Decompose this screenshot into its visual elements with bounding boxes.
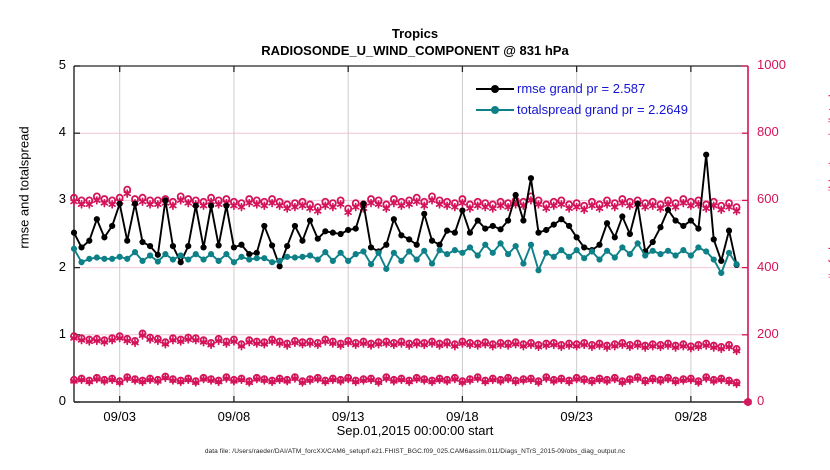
series-point: [658, 252, 663, 257]
series-point: [94, 255, 99, 260]
series-point: [513, 244, 518, 249]
figure-container: Tropics RADIOSONDE_U_WIND_COMPONENT @ 83…: [0, 0, 830, 470]
series-point: [445, 252, 450, 257]
series-point: [429, 238, 434, 243]
series-point: [231, 260, 236, 265]
series-point: [110, 256, 115, 261]
series-point: [201, 245, 206, 250]
x-axis-label: Sep.01,2015 00:00:00 start: [0, 423, 830, 438]
y-tick-right-200: 200: [757, 326, 817, 341]
series-point: [422, 248, 427, 253]
series-point: [399, 233, 404, 238]
series-point: [635, 201, 640, 206]
series-point: [528, 242, 533, 247]
series-point: [376, 250, 381, 255]
y-tick-right-600: 600: [757, 191, 817, 206]
series-point: [140, 239, 145, 244]
series-point: [521, 261, 526, 266]
series-point: [696, 226, 701, 231]
series-point: [300, 254, 305, 259]
series-point: [391, 250, 396, 255]
series-point: [269, 243, 274, 248]
series-point: [544, 227, 549, 232]
series-point: [262, 223, 267, 228]
series-point: [407, 237, 412, 242]
series-point: [353, 226, 358, 231]
series-point: [239, 242, 244, 247]
series-point: [300, 238, 305, 243]
series-point: [285, 244, 290, 249]
x-tick-09-18: 09/18: [427, 409, 497, 424]
series-point: [719, 270, 724, 275]
series-point: [704, 152, 709, 157]
series-point: [604, 248, 609, 253]
series-point: [201, 257, 206, 262]
series-point: [368, 262, 373, 267]
series-point: [597, 242, 602, 247]
series-point: [254, 250, 259, 255]
series-point: [208, 252, 213, 257]
series-point: [475, 218, 480, 223]
series-point: [506, 218, 511, 223]
series-point: [338, 231, 343, 236]
series-point: [719, 258, 724, 263]
series-point: [346, 227, 351, 232]
series-point: [117, 254, 122, 259]
series-point: [681, 223, 686, 228]
series-point: [490, 223, 495, 228]
series-point: [147, 253, 152, 258]
series-point: [231, 245, 236, 250]
series-point: [292, 223, 297, 228]
series-point: [330, 230, 335, 235]
series-point: [399, 258, 404, 263]
series-point: [277, 264, 282, 269]
y-tick-left-3: 3: [26, 191, 66, 206]
y-tick-right-1000: 1000: [757, 57, 817, 72]
series-point: [307, 218, 312, 223]
series-point: [361, 201, 366, 206]
series-point: [612, 255, 617, 260]
series-line: [74, 155, 737, 267]
series-point: [650, 248, 655, 253]
series-point: [71, 246, 76, 251]
series-point: [658, 225, 663, 230]
series-point: [452, 230, 457, 235]
x-tick-09-13: 09/13: [313, 409, 383, 424]
series-point: [186, 257, 191, 262]
series-point: [155, 259, 160, 264]
series-point: [285, 254, 290, 259]
series-point: [292, 255, 297, 260]
data-file-footer: data file: /Users/raeder/DAI/ATM_forcXX/…: [0, 448, 830, 455]
y-tick-right-400: 400: [757, 259, 817, 274]
series-point: [483, 226, 488, 231]
series-point: [475, 253, 480, 258]
x-tick-09-08: 09/08: [199, 409, 269, 424]
series-point: [384, 242, 389, 247]
series-point: [155, 252, 160, 257]
series-point: [688, 218, 693, 223]
series-point: [193, 203, 198, 208]
series-point: [132, 250, 137, 255]
series-point: [163, 252, 168, 257]
y-tick-right-800: 800: [757, 124, 817, 139]
series-point: [696, 245, 701, 250]
series-point: [368, 245, 373, 250]
series-point: [307, 253, 312, 258]
series-point: [528, 176, 533, 181]
series-point: [627, 231, 632, 236]
series-point: [490, 250, 495, 255]
series-point: [681, 248, 686, 253]
series-point: [224, 252, 229, 257]
series-point: [79, 260, 84, 265]
series-point: [407, 249, 412, 254]
series-point: [665, 248, 670, 253]
series-point: [589, 249, 594, 254]
series-point: [635, 241, 640, 246]
series-point: [224, 203, 229, 208]
series-point: [140, 258, 145, 263]
series-point: [384, 266, 389, 271]
series-point: [704, 249, 709, 254]
series-point: [726, 228, 731, 233]
series-point: [544, 250, 549, 255]
series-point: [323, 229, 328, 234]
series-point: [559, 248, 564, 253]
series-point: [460, 208, 465, 213]
series-point: [467, 245, 472, 250]
series-point: [208, 203, 213, 208]
series-point: [186, 244, 191, 249]
series-point: [574, 248, 579, 253]
series-point: [559, 217, 564, 222]
series-point: [170, 257, 175, 262]
y-tick-left-4: 4: [26, 124, 66, 139]
series-point: [330, 258, 335, 263]
series-point: [467, 230, 472, 235]
series-point: [125, 238, 130, 243]
plot-svg: [0, 0, 830, 470]
series-point: [414, 242, 419, 247]
x-tick-09-23: 09/23: [542, 409, 612, 424]
series-point: [239, 254, 244, 259]
series-point: [460, 250, 465, 255]
series-point: [346, 258, 351, 263]
series-point: [604, 221, 609, 226]
series-point: [567, 223, 572, 228]
series-point: [445, 228, 450, 233]
series-point: [254, 256, 259, 261]
series-point: [110, 223, 115, 228]
series-point: [726, 250, 731, 255]
series-point: [71, 230, 76, 235]
series-point: [643, 253, 648, 258]
series-point: [315, 236, 320, 241]
series-point: [262, 256, 267, 261]
series-point: [620, 245, 625, 250]
series-point: [163, 198, 168, 203]
series-point: [582, 245, 587, 250]
series-point: [673, 218, 678, 223]
series-point: [147, 244, 152, 249]
series-point: [620, 214, 625, 219]
series-point: [193, 252, 198, 257]
x-tick-09-03: 09/03: [85, 409, 155, 424]
series-point: [102, 235, 107, 240]
y-tick-right-0: 0: [757, 393, 817, 408]
series-point: [79, 245, 84, 250]
series-point: [132, 201, 137, 206]
series-point: [452, 248, 457, 253]
series-point: [94, 217, 99, 222]
series-point: [178, 253, 183, 258]
series-point: [269, 260, 274, 265]
series-point: [87, 256, 92, 261]
y-tick-left-5: 5: [26, 57, 66, 72]
series-point: [551, 222, 556, 227]
series-point: [688, 253, 693, 258]
series-point: [536, 230, 541, 235]
series-point: [170, 244, 175, 249]
series-point: [338, 250, 343, 255]
series-point: [574, 235, 579, 240]
series-point: [323, 250, 328, 255]
series-point: [414, 257, 419, 262]
series-point: [521, 218, 526, 223]
series-point: [627, 252, 632, 257]
y-tick-left-0: 0: [26, 393, 66, 408]
series-point: [216, 258, 221, 263]
series-point: [178, 260, 183, 265]
series-point: [429, 261, 434, 266]
series-point: [612, 235, 617, 240]
series-point: [711, 237, 716, 242]
series-point: [102, 256, 107, 261]
y-tick-left-2: 2: [26, 259, 66, 274]
x-tick-09-28: 09/28: [656, 409, 726, 424]
series-point: [597, 257, 602, 262]
series-point: [513, 192, 518, 197]
series-point: [483, 242, 488, 247]
series-point: [391, 217, 396, 222]
series-point: [87, 238, 92, 243]
series-point: [125, 256, 130, 261]
series-point: [498, 241, 503, 246]
series-point: [665, 207, 670, 212]
series-point: [498, 227, 503, 232]
series-point: [422, 211, 427, 216]
series-point: [582, 256, 587, 261]
series-point: [247, 252, 252, 257]
series-point: [551, 254, 556, 259]
series-point: [353, 252, 358, 257]
y-axis-label-right: # of obs: o=possible; *=assimilated: [826, 42, 830, 332]
series-point: [437, 242, 442, 247]
series-point: [650, 239, 655, 244]
series-point: [361, 249, 366, 254]
series-point: [315, 257, 320, 262]
series-point: [673, 253, 678, 258]
series-point: [117, 201, 122, 206]
series-point: [567, 254, 572, 259]
series-point: [536, 268, 541, 273]
series-point: [734, 262, 739, 267]
series-point: [506, 252, 511, 257]
series-point: [277, 258, 282, 263]
series-point: [247, 257, 252, 262]
series-point: [216, 243, 221, 248]
y-tick-left-1: 1: [26, 326, 66, 341]
series-point: [437, 248, 442, 253]
series-point: [711, 257, 716, 262]
